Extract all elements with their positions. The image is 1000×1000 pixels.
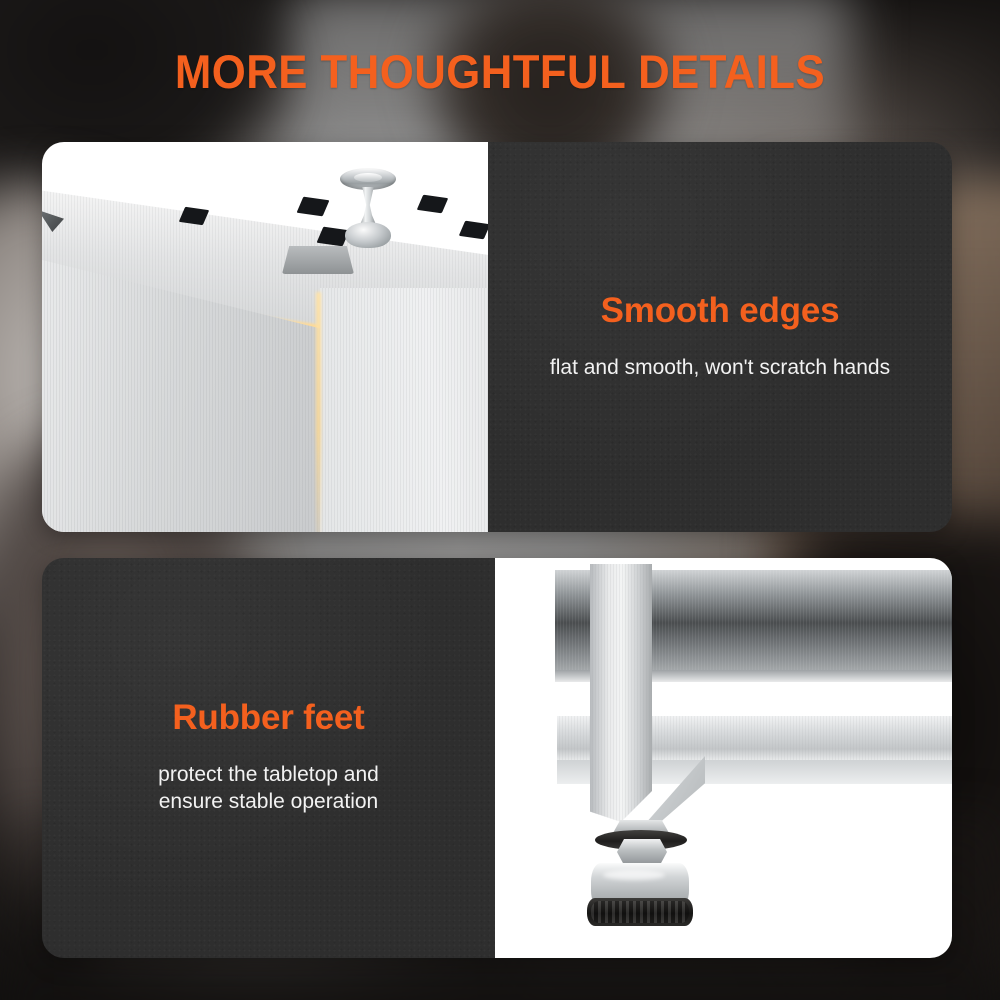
perforation-hole xyxy=(297,197,330,217)
feature-card-rubber-feet: Rubber feet protect the tabletop and ens… xyxy=(42,558,952,958)
feature-subtitle-smooth-edges: flat and smooth, won't scratch hands xyxy=(550,354,890,381)
decorative-knob xyxy=(340,168,396,254)
steel-corner-glow xyxy=(316,292,321,532)
perforation-hole xyxy=(459,221,488,240)
product-feature-graphic: MORE THOUGHTFUL DETAILS Smooth edges fl xyxy=(0,0,1000,1000)
steel-front-right-face xyxy=(320,288,488,532)
feature-card-smooth-edges: Smooth edges flat and smooth, won't scra… xyxy=(42,142,952,532)
feature-title-rubber-feet: Rubber feet xyxy=(172,700,364,737)
knob-cap xyxy=(340,168,396,190)
knob-base xyxy=(345,222,391,248)
foot-lower-hex-nut xyxy=(617,839,667,865)
perforation-hole xyxy=(417,195,448,214)
page-title: MORE THOUGHTFUL DETAILS xyxy=(35,48,965,95)
foot-rubber-pad xyxy=(587,898,693,926)
photo-stainless-steel-corner xyxy=(42,142,488,532)
knob-neck xyxy=(359,187,377,227)
photo-rubber-foot-detail xyxy=(495,558,952,958)
steel-leg-post xyxy=(590,564,652,822)
feature-subtitle-rubber-feet: protect the tabletop and ensure stable o… xyxy=(158,761,379,816)
text-panel-rubber-feet: Rubber feet protect the tabletop and ens… xyxy=(42,558,495,958)
text-panel-smooth-edges: Smooth edges flat and smooth, won't scra… xyxy=(488,142,952,532)
feature-title-smooth-edges: Smooth edges xyxy=(601,293,840,330)
